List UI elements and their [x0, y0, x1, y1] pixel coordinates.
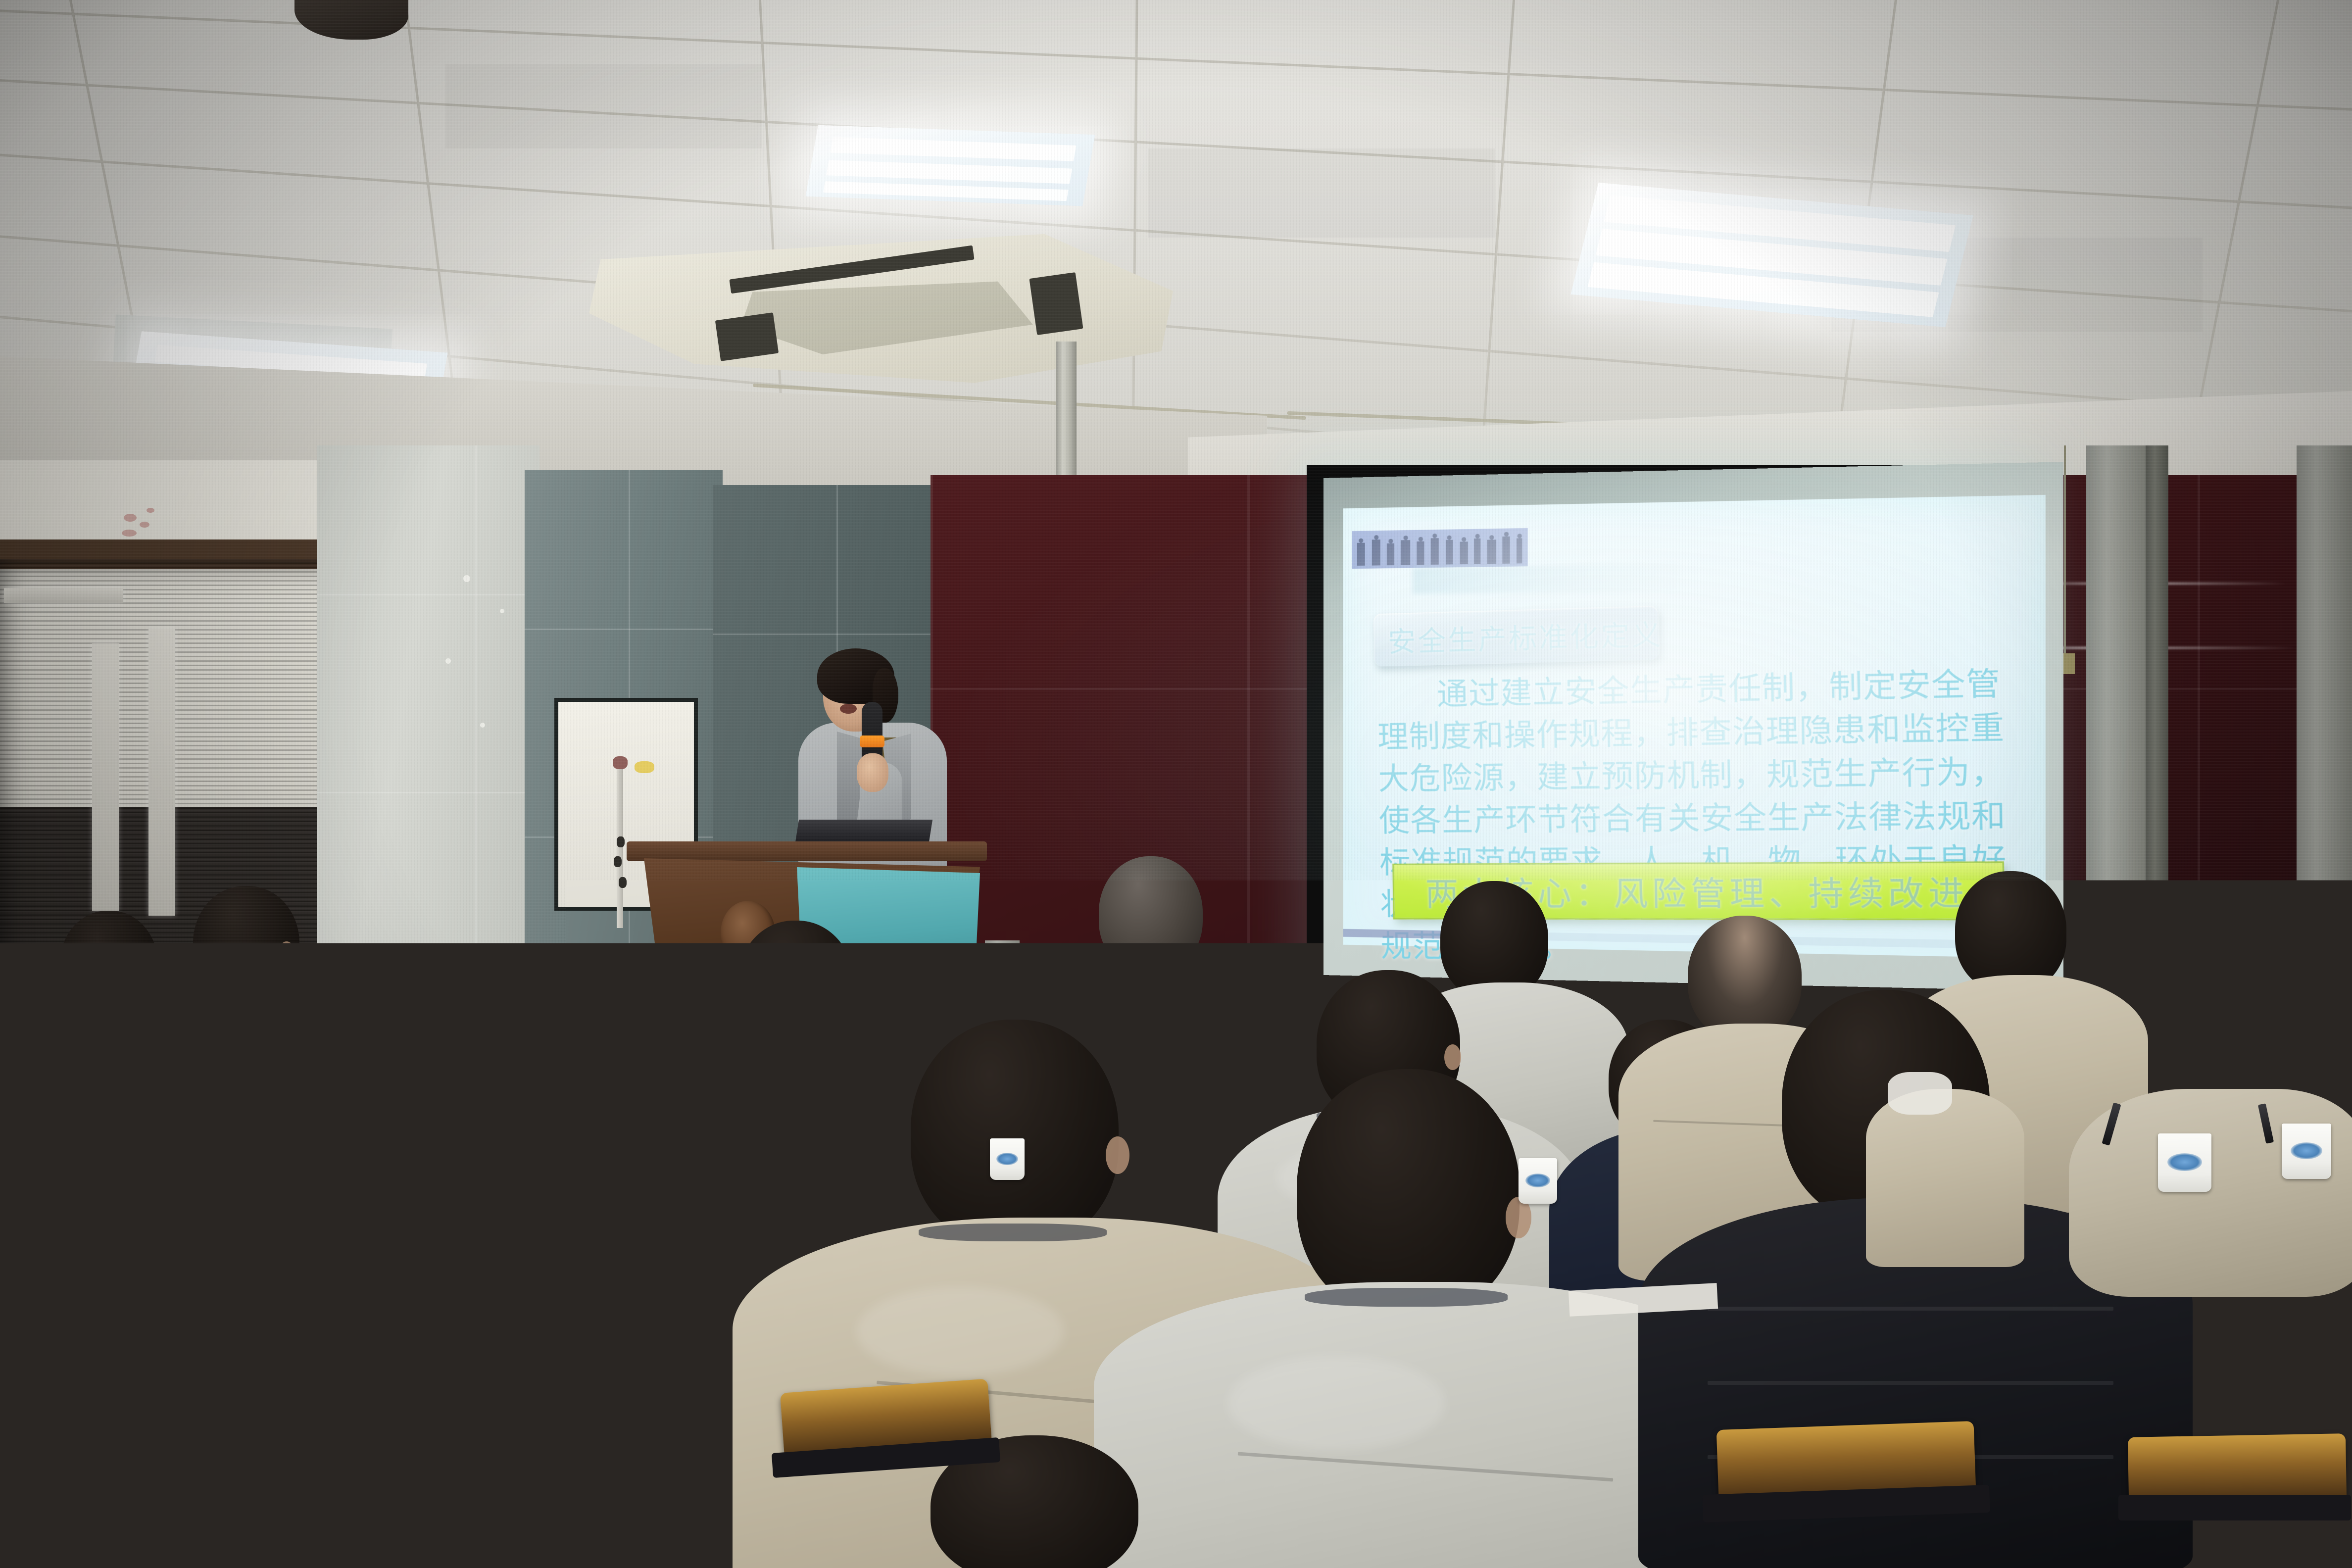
- ceiling-light-panel: [1570, 183, 1973, 327]
- slide-header-band: [1352, 528, 1528, 569]
- mic-stand-knob: [614, 856, 622, 867]
- microphone-band: [860, 735, 884, 747]
- ceiling-light-panel: [805, 125, 1095, 206]
- podium-surface: [627, 841, 987, 861]
- mic-stand-knob: [619, 877, 627, 888]
- chair-frame: [2118, 1495, 2351, 1520]
- ceiling-fixture-dark: [294, 0, 408, 40]
- projector-mount-pole: [1056, 342, 1077, 490]
- presenter-mouth: [840, 704, 857, 714]
- microphone-stand-head: [613, 756, 628, 769]
- classroom-photo-scene: 安全生产标准化定义 通过建立安全生产责任制，制定安全管理制度和操作规程，排查治理…: [0, 0, 2352, 1568]
- paper-cup[interactable]: [1519, 1158, 1557, 1204]
- audience-member: [1148, 1069, 1693, 1568]
- face-mask-icon: [1888, 1072, 1952, 1115]
- slide-title: 安全生产标准化定义: [1373, 612, 1663, 660]
- paper-cup[interactable]: [678, 1173, 720, 1221]
- paper-cup[interactable]: [2158, 1133, 2211, 1192]
- ceiling-cassette-ac-icon: [589, 228, 1173, 386]
- audience-member: [346, 960, 703, 1568]
- slide-title-box: 安全生产标准化定义: [1373, 606, 1659, 667]
- slide-header-ghost-text: [1413, 564, 1678, 594]
- audience-member: [1866, 1059, 2014, 1267]
- audience-member: [2069, 1049, 2352, 1416]
- whiteboard-marker-smudge: [635, 761, 654, 773]
- wall-pillar: [2146, 445, 2168, 1119]
- mic-stand-knob: [617, 836, 625, 847]
- paper-cup[interactable]: [990, 1138, 1025, 1180]
- paper-cup[interactable]: [2282, 1124, 2331, 1179]
- presenter-hand: [857, 753, 888, 792]
- chair-back: [2128, 1433, 2347, 1502]
- hanging-cord: [2064, 445, 2066, 658]
